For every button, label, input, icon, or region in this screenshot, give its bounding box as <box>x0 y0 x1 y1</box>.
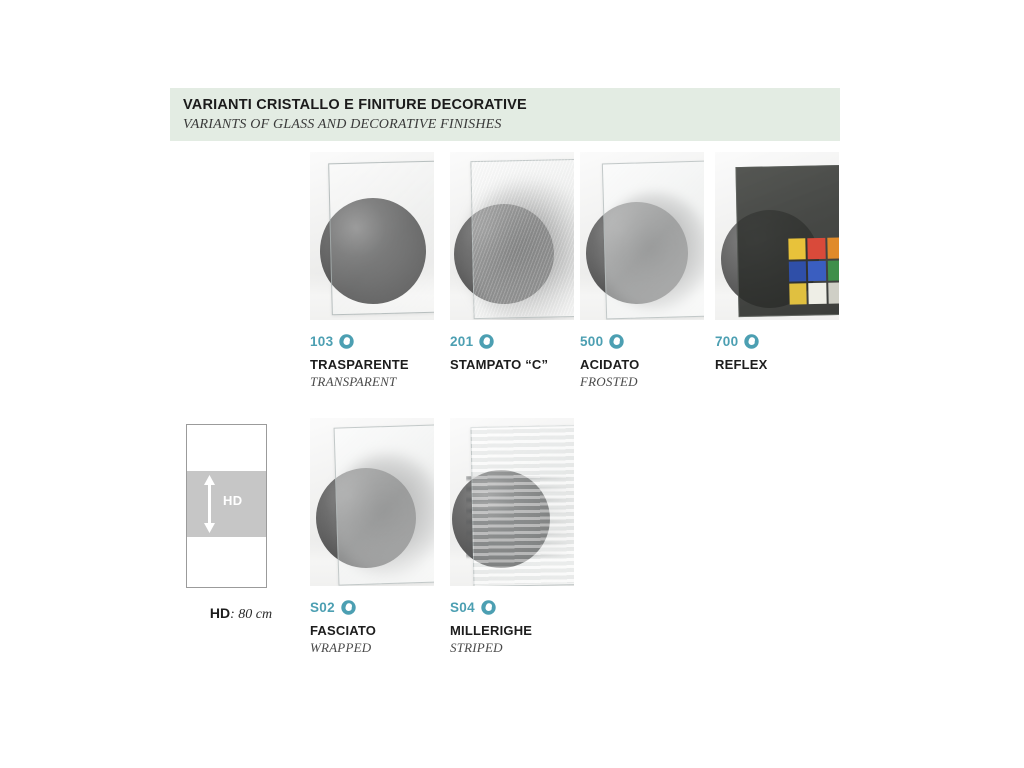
color-swatch <box>808 238 826 259</box>
sample-name-en: FROSTED <box>580 374 730 390</box>
page-subtitle: VARIANTS OF GLASS AND DECORATIVE FINISHE… <box>183 115 840 134</box>
color-swatch <box>788 238 806 259</box>
sample-name-it: FASCIATO <box>310 623 460 638</box>
catalog-page: VARIANTI CRISTALLO E FINITURE DECORATIVE… <box>0 0 1024 768</box>
sample-name-en: TRANSPARENT <box>310 374 460 390</box>
color-checker-grid <box>788 237 839 304</box>
glass-pane <box>328 161 434 316</box>
hd-arrow-label: HD <box>223 493 243 508</box>
color-swatch <box>789 261 807 282</box>
sample-code: 103 <box>310 334 333 349</box>
sample-photo-103 <box>310 152 434 320</box>
hd-caption: HD: 80 cm <box>186 605 296 623</box>
sample-name-it: MILLERIGHE <box>450 623 600 638</box>
finish-swatch-icon <box>744 334 759 349</box>
finish-swatch-icon <box>339 334 354 349</box>
sample-code: 500 <box>580 334 603 349</box>
ribbed-glass-overlay <box>470 425 574 585</box>
sample-code: S04 <box>450 600 475 615</box>
color-swatch <box>827 260 839 281</box>
sample-caption-500: 500 ACIDATO FROSTED <box>580 332 730 390</box>
finish-swatch-icon <box>481 600 496 615</box>
sample-photo-500 <box>580 152 704 320</box>
color-swatch <box>808 260 826 281</box>
hd-figure: HD <box>186 424 267 588</box>
color-swatch <box>789 284 807 305</box>
sample-caption-s02: S02 FASCIATO WRAPPED <box>310 598 460 656</box>
sample-card-s02[interactable]: S02 FASCIATO WRAPPED <box>310 418 434 586</box>
sample-code: 201 <box>450 334 473 349</box>
color-swatch <box>809 283 827 304</box>
sample-caption-s04: S04 MILLERIGHE STRIPED <box>450 598 600 656</box>
sample-caption-700: 700 REFLEX <box>715 332 865 374</box>
code-line: 500 <box>580 332 730 350</box>
sample-card-700[interactable]: 700 REFLEX <box>715 152 839 320</box>
finish-swatch-icon <box>341 600 356 615</box>
sample-name-it: STAMPATO “C” <box>450 357 600 372</box>
page-title: VARIANTI CRISTALLO E FINITURE DECORATIVE <box>183 96 840 115</box>
sample-code: S02 <box>310 600 335 615</box>
sample-name-it: ACIDATO <box>580 357 730 372</box>
hd-caption-value: : 80 cm <box>230 607 272 622</box>
color-swatch <box>828 283 839 304</box>
sample-photo-201 <box>450 152 574 320</box>
sample-name-en: WRAPPED <box>310 640 460 656</box>
sample-code: 700 <box>715 334 738 349</box>
section-header-band: VARIANTI CRISTALLO E FINITURE DECORATIVE… <box>170 88 840 141</box>
sample-card-201[interactable]: 201 STAMPATO “C” <box>450 152 574 320</box>
finish-swatch-icon <box>609 334 624 349</box>
code-line: 700 <box>715 332 865 350</box>
sample-name-en: STRIPED <box>450 640 600 656</box>
double-arrow-icon <box>203 475 216 533</box>
sample-card-500[interactable]: 500 ACIDATO FROSTED <box>580 152 704 320</box>
sample-card-103[interactable]: 103 TRASPARENTE TRANSPARENT <box>310 152 434 320</box>
code-line: S02 <box>310 598 460 616</box>
glass-pane <box>602 161 704 320</box>
finish-swatch-icon <box>479 334 494 349</box>
sample-caption-103: 103 TRASPARENTE TRANSPARENT <box>310 332 460 390</box>
hd-caption-key: HD <box>210 605 230 621</box>
sample-name-it: TRASPARENTE <box>310 357 460 372</box>
glass-texture-overlay <box>470 159 574 317</box>
sample-photo-s04 <box>450 418 574 586</box>
sample-photo-700 <box>715 152 839 320</box>
glass-pane <box>334 424 434 585</box>
sample-name-it: REFLEX <box>715 357 865 372</box>
code-line: 103 <box>310 332 460 350</box>
code-line: S04 <box>450 598 600 616</box>
sample-photo-s02 <box>310 418 434 586</box>
color-swatch <box>827 237 839 258</box>
sample-card-s04[interactable]: S04 MILLERIGHE STRIPED <box>450 418 574 586</box>
code-line: 201 <box>450 332 600 350</box>
hd-dimension-diagram: HD HD: 80 cm <box>186 424 296 623</box>
sample-caption-201: 201 STAMPATO “C” <box>450 332 600 374</box>
